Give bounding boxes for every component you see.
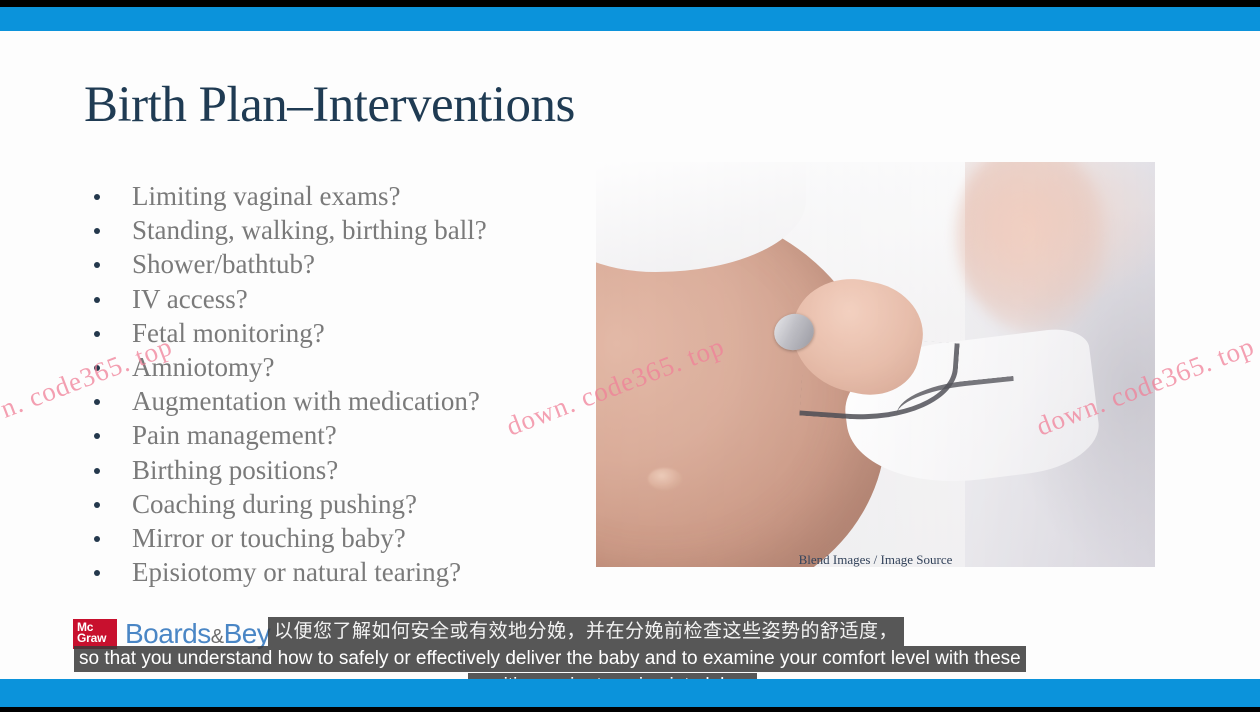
list-item: Mirror or touching baby? [88, 521, 608, 555]
list-item: Amniotomy? [88, 350, 608, 384]
intervention-bullet-list: Limiting vaginal exams? Standing, walkin… [88, 179, 608, 589]
mcgraw-line-2: Graw [77, 631, 106, 645]
player-bottom-accent-bar [0, 679, 1260, 707]
list-item: Fetal monitoring? [88, 316, 608, 350]
list-item: Episiotomy or natural tearing? [88, 555, 608, 589]
mcgraw-hill-logo: Mc Graw HILL [73, 619, 117, 649]
wordmark-ampersand: & [211, 626, 224, 648]
presentation-slide: Birth Plan–Interventions Limiting vagina… [0, 31, 1260, 679]
list-item: Standing, walking, birthing ball? [88, 213, 608, 247]
photo-soft-focus-overlay [596, 162, 1155, 567]
wordmark-boards: Boards [125, 618, 211, 649]
wordmark-beyond: Bey [224, 618, 271, 649]
subtitle-chinese: 以便您了解如何安全或有效地分娩，并在分娩前检查这些姿势的舒适度， [268, 617, 904, 646]
list-item: Shower/bathtub? [88, 247, 608, 281]
list-item: Coaching during pushing? [88, 487, 608, 521]
letterbox-bottom [0, 707, 1260, 712]
list-item: Pain management? [88, 418, 608, 452]
list-item: IV access? [88, 282, 608, 316]
subtitle-english-line-1: so that you understand how to safely or … [74, 646, 1026, 672]
player-top-accent-bar [0, 7, 1260, 31]
list-item: Augmentation with medication? [88, 384, 608, 418]
pregnancy-stethoscope-photo [596, 162, 1155, 567]
letterbox-top [0, 0, 1260, 7]
list-item: Birthing positions? [88, 453, 608, 487]
photo-credit-caption: Blend Images / Image Source [596, 552, 1155, 568]
video-player-screen: Birth Plan–Interventions Limiting vagina… [0, 0, 1260, 712]
slide-title: Birth Plan–Interventions [84, 76, 575, 134]
list-item: Limiting vaginal exams? [88, 179, 608, 213]
